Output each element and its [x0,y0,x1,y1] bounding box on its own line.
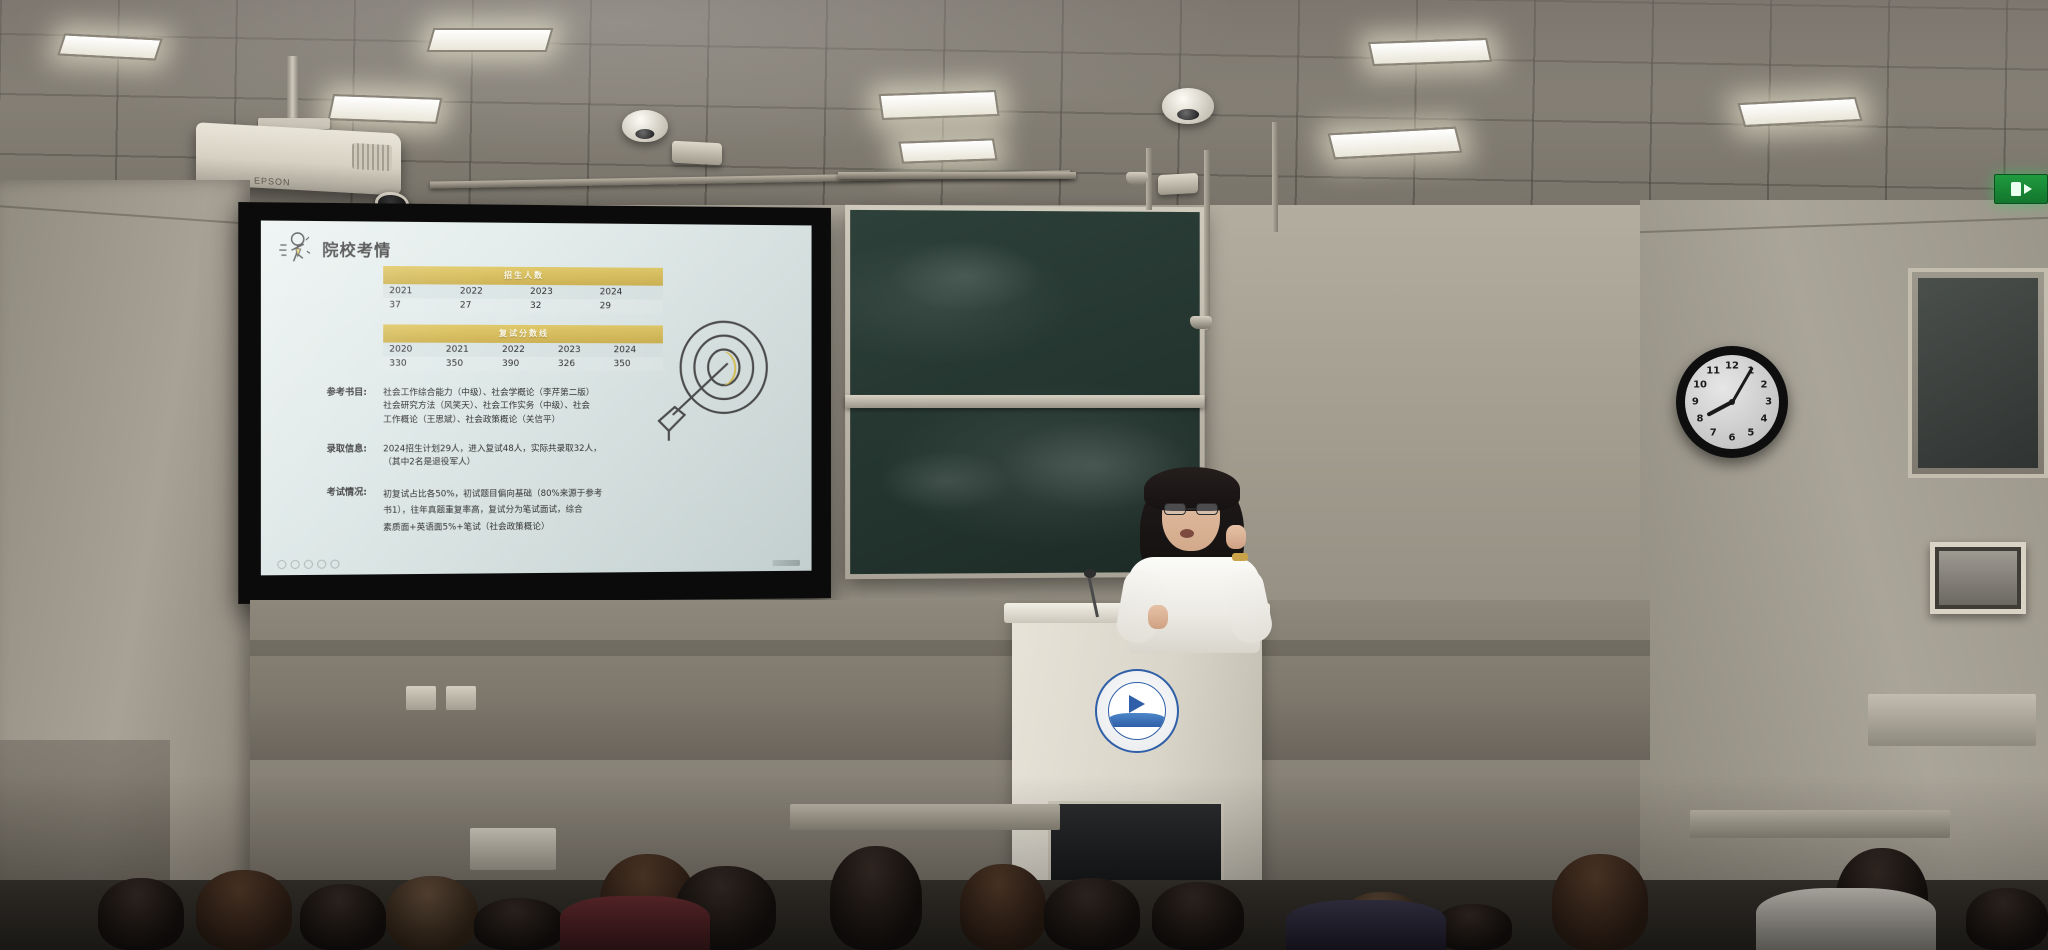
ceiling-dome-camera [1162,88,1214,124]
glasses-lens-left [1164,503,1186,515]
table-cell-year: 2020 [383,343,440,357]
audience-head [386,876,478,950]
exam-situation-block: 考试情况: 初复试占比各50%，初试题目偏向基础（80%来源于参考 书1），往年… [281,484,798,537]
audience-head [830,846,922,950]
exam-situation-label: 考试情况: [281,486,379,537]
table-row: 2020 2021 2022 2023 2024 [383,343,663,358]
table-cell-year: 2022 [454,284,524,298]
ceiling-dome-camera [622,110,668,142]
chalk-smudge [891,240,1041,311]
audience-desk [790,804,1060,830]
presenter-speaking [1118,465,1268,645]
clock-numeral: 8 [1697,413,1704,424]
table-cell-year: 2022 [496,343,552,357]
dome-camera-lens [1177,109,1199,121]
table-cell-value: 326 [552,357,608,371]
enrollment-table-header: 招生人数 [383,266,663,286]
audience-desk [1690,810,1950,838]
text-line: 素质面+英语面5%+笔试（社会政策概论） [383,519,602,537]
table-cell-value: 37 [383,298,454,312]
presenter-mouth [1180,529,1194,538]
clock-numeral: 3 [1765,397,1772,408]
audience-head [1152,882,1244,950]
exam-situation-body: 初复试占比各50%，初试题目偏向基础（80%来源于参考 书1），往年真题重复率高… [383,485,602,537]
exit-arrow-icon [2024,184,2032,194]
presenter-wristwatch [1232,553,1248,561]
clock-numeral: 2 [1760,380,1767,391]
board-light-head [1126,172,1148,185]
footer-dot [291,560,300,569]
projector-brand-label: EPSON [254,176,291,188]
table-cell-value: 29 [594,299,663,313]
ceiling-light-panel [427,28,554,52]
text-line: 初复试占比各50%，初试题目偏向基础（80%来源于参考 [383,485,602,503]
running-person-icon [277,231,314,266]
slide-content: 院校考情 招生人数 2021 2022 2023 2024 37 27 32 [261,220,812,575]
table-cell-value: 350 [440,357,496,371]
chalkboard-tray-divider [845,395,1205,408]
exit-sign [1994,174,2048,204]
table-row: 330 350 390 326 350 [383,357,663,372]
wall-clock: 12 1 2 3 4 5 6 7 8 9 10 11 [1676,346,1788,458]
audience-area [0,660,2048,950]
audience-shoulders [560,896,710,950]
audience-head [300,884,386,950]
table-row: 37 27 32 29 [383,298,663,313]
clock-numeral: 7 [1710,428,1717,439]
text-line: （其中2名是退役军人） [383,456,601,470]
chalk-smudge [880,451,1011,512]
projector-mount-pole [287,56,298,122]
audience-head [474,898,564,950]
picture-image [1939,551,2017,605]
window-glass [1918,278,2038,468]
presenter-hand-left [1148,605,1168,629]
presenter-hand-right [1226,525,1246,549]
audience-head [1966,888,2048,950]
glasses-lens-right [1196,503,1218,515]
footer-dot [317,560,326,569]
clock-numeral: 12 [1725,361,1739,372]
table-cell-year: 2024 [594,285,663,299]
table-row: 2021 2022 2023 2024 [383,284,663,300]
retest-score-table: 复试分数线 2020 2021 2022 2023 2024 330 350 3… [383,324,663,371]
table-cell-value: 27 [454,299,524,313]
table-cell-year: 2021 [383,284,454,298]
lecture-hall-scene: EPSON [0,0,2048,950]
slide-header: 院校考情 [277,231,798,269]
table-cell-value: 32 [524,299,594,313]
text-line: 书1），往年真题重复率高，复试分为笔试面试，综合 [383,502,602,520]
clock-numeral: 11 [1706,365,1720,376]
ceiling: EPSON [0,0,2048,215]
ceiling-beam [838,172,1076,179]
text-line: 2024招生计划29人，进入复试48人，实际共录取32人， [383,443,601,457]
reference-books-body: 社会工作综合能力（中级）、社会学概论（李芹第二版） 社会研究方法（风笑天）、社会… [383,387,594,427]
reference-books-label: 参考书目: [281,387,379,427]
glasses-bridge [1186,508,1196,510]
dome-camera-lens [635,129,654,139]
clock-minute-hand [1731,367,1754,403]
clock-face: 12 1 2 3 4 5 6 7 8 9 10 11 [1685,355,1779,449]
ceiling-light-panel [878,90,999,120]
footer-dot [304,560,313,569]
table-cell-year: 2023 [552,343,608,357]
presenter-glasses-icon [1164,503,1218,515]
footer-dot [277,560,286,569]
admission-info-block: 录取信息: 2024招生计划29人，进入复试48人，实际共录取32人， （其中2… [281,442,798,470]
clock-numeral: 4 [1760,413,1767,424]
ceiling-light-panel [1368,38,1492,66]
exit-running-person-icon [2011,182,2021,196]
target-dartboard-icon [653,316,778,441]
ceiling-speaker [1158,173,1198,195]
audience-laptop [470,828,556,870]
slide-footer-dots [277,560,339,570]
microphone-head-icon [1084,569,1096,578]
ceiling-light-panel [898,138,997,163]
audience-head [196,870,292,950]
table-cell-value: 330 [383,357,440,371]
slide-corner-watermark [773,560,800,566]
projected-slide: 院校考情 招生人数 2021 2022 2023 2024 37 27 32 [261,220,812,575]
wall-picture-frame [1930,542,2026,614]
admission-info-label: 录取信息: [281,443,379,470]
enrollment-table: 招生人数 2021 2022 2023 2024 37 27 32 29 [383,266,663,314]
clock-center-pin [1729,399,1735,405]
board-light-arm [1272,122,1278,232]
text-line: 社会研究方法（风笑天）、社会工作实务（中级）、社会 [383,400,594,413]
admission-info-body: 2024招生计划29人，进入复试48人，实际共录取32人， （其中2名是退役军人… [383,443,601,470]
audience-head [1552,854,1648,950]
audience-shoulders [1286,900,1446,950]
right-window [1908,268,2048,478]
text-line: 社会工作综合能力（中级）、社会学概论（李芹第二版） [383,387,594,400]
footer-dot [330,560,339,569]
projection-screen: 院校考情 招生人数 2021 2022 2023 2024 37 27 32 [238,202,831,604]
clock-numeral: 5 [1747,428,1754,439]
clock-numeral: 10 [1693,380,1707,391]
board-light-head [1190,316,1212,329]
projector-vent [352,143,392,171]
clock-numeral: 9 [1692,397,1699,408]
ceiling-light-panel [328,94,443,124]
retest-score-table-header: 复试分数线 [383,324,663,343]
audience-head [98,878,184,950]
audience-shoulders [1756,888,1936,950]
stage-wall-band [250,640,1650,656]
slide-title: 院校考情 [322,236,391,261]
table-cell-value: 390 [496,357,552,371]
table-cell-year: 2023 [524,285,594,299]
text-line: 工作概论（王思斌）、社会政策概论（关信平） [383,414,594,428]
audience-head [960,864,1046,950]
clock-numeral: 6 [1729,432,1736,443]
audience-head [1044,878,1140,950]
board-light-arm [1204,150,1210,330]
table-cell-year: 2021 [440,343,496,357]
ceiling-speaker [672,141,722,166]
